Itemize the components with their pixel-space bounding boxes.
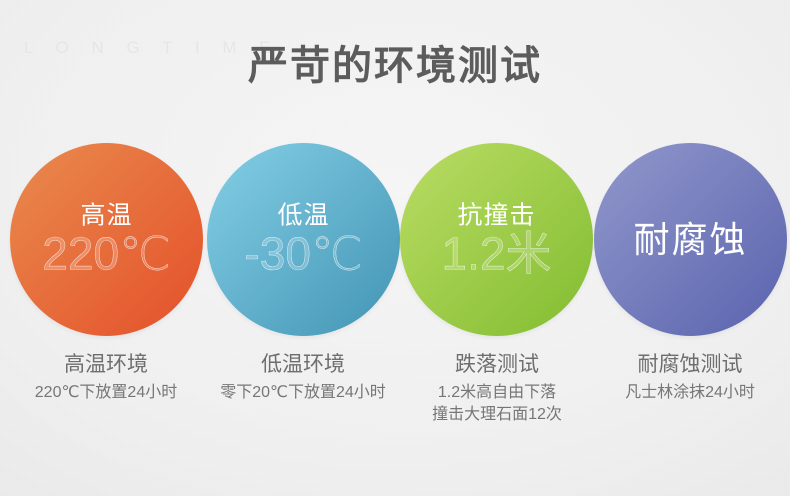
circle-label: 低温	[207, 202, 400, 228]
caption-row: 高温环境 220℃下放置24小时 低温环境 零下20℃下放置24小时 跌落测试 …	[0, 352, 790, 462]
caption-detail-line: 撞击大理石面12次	[397, 404, 597, 426]
circle-label: 高温	[10, 202, 203, 228]
page-title: 严苛的环境测试	[0, 44, 790, 88]
caption-corrosion: 耐腐蚀测试 凡士林涂抹24小时	[590, 352, 790, 404]
test-circle-high-temp: 高温 220℃	[10, 143, 203, 336]
test-circle-low-temp: 低温 -30℃	[207, 143, 400, 336]
caption-title: 耐腐蚀测试	[590, 352, 790, 378]
caption-drop-test: 跌落测试 1.2米高自由下落 撞击大理石面12次	[397, 352, 597, 425]
circle-value: 220℃	[10, 230, 203, 277]
circle-content: 耐腐蚀	[594, 220, 787, 260]
circle-value: -30℃	[207, 230, 400, 277]
circle-content: 低温 -30℃	[207, 202, 400, 277]
circle-label: 耐腐蚀	[594, 220, 787, 260]
caption-detail-line: 零下20℃下放置24小时	[203, 382, 403, 404]
circle-value: 1.2米	[400, 230, 593, 277]
circle-content: 抗撞击 1.2米	[400, 202, 593, 277]
test-circle-corrosion: 耐腐蚀	[594, 143, 787, 336]
caption-detail-line: 凡士林涂抹24小时	[590, 382, 790, 404]
circle-label: 抗撞击	[400, 202, 593, 228]
caption-detail-line: 220℃下放置24小时	[6, 382, 206, 404]
circle-content: 高温 220℃	[10, 202, 203, 277]
promo-banner: L O N G T I M E 严苛的环境测试 高温 220℃ 低温 -30℃ …	[0, 0, 790, 496]
test-circle-row: 高温 220℃ 低温 -30℃ 抗撞击 1.2米 耐腐蚀	[0, 143, 790, 339]
caption-low-temp: 低温环境 零下20℃下放置24小时	[203, 352, 403, 404]
caption-detail-line: 1.2米高自由下落	[397, 382, 597, 404]
caption-high-temp: 高温环境 220℃下放置24小时	[6, 352, 206, 404]
caption-title: 高温环境	[6, 352, 206, 378]
caption-title: 低温环境	[203, 352, 403, 378]
caption-title: 跌落测试	[397, 352, 597, 378]
test-circle-impact: 抗撞击 1.2米	[400, 143, 593, 336]
